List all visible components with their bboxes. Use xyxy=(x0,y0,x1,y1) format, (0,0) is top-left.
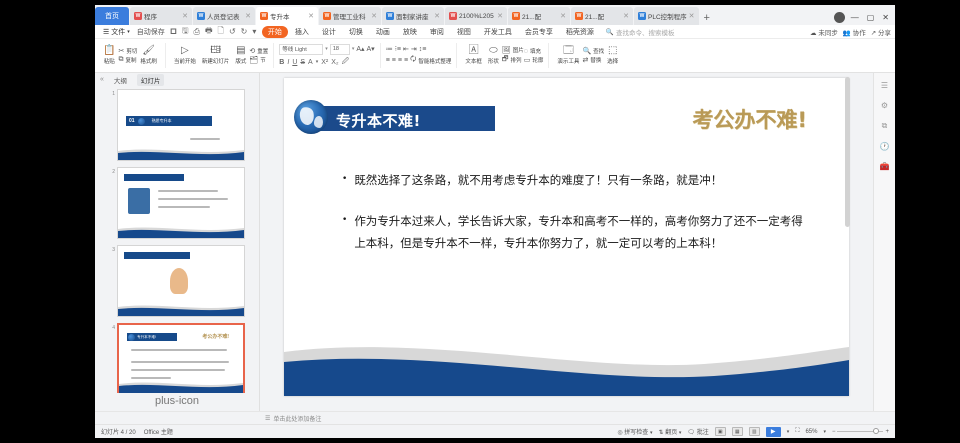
play-icon: ▷ xyxy=(181,46,189,56)
file-menu-button[interactable]: ☰ 文件 ▾ xyxy=(99,27,134,37)
ribbon-group-slide: ▷ 当前开始 🖽 新建幻灯片 ▤ 版式 ⟲ 重置 🗂 节 xyxy=(169,40,270,71)
zoom-knob[interactable] xyxy=(873,428,879,434)
picture-icon: 🖼 xyxy=(502,46,511,54)
document-tab-label: 程序 xyxy=(144,11,180,21)
tab-outline[interactable]: 大纲 xyxy=(110,74,131,86)
ribbon-group-clipboard: 📋 粘贴 ✂ 剪切 ⧉ 复制 🖌 格式刷 xyxy=(98,40,162,71)
window-controls: — ▢ ✕ xyxy=(830,12,895,25)
outline-icon: ▭ xyxy=(524,56,531,64)
view-reading-icon[interactable]: ▥ xyxy=(749,427,760,436)
collapse-left-icon[interactable]: « xyxy=(100,76,104,83)
cloud-sync-label: 未同步 xyxy=(818,30,838,37)
bullet-marker: • xyxy=(342,170,347,191)
select-button[interactable]: ⬚ 选择 xyxy=(604,40,621,71)
start-from-current-button[interactable]: ▷ 当前开始 xyxy=(171,40,199,71)
find-label: 查找 xyxy=(593,47,604,55)
chevron-down-icon[interactable]: ▾ xyxy=(325,46,328,52)
document-tab-label: 21...配 xyxy=(522,11,558,21)
slide-thumbnail-pane: « 大纲 幻灯片 101熟悉专升本234专升本不难!考公办不难!5 plus-i… xyxy=(95,73,260,411)
workspace: « 大纲 幻灯片 101熟悉专升本234专升本不难!考公办不难!5 plus-i… xyxy=(95,73,895,411)
close-icon[interactable]: ✕ xyxy=(560,12,566,20)
font-name-select[interactable]: 等线 Light xyxy=(279,44,323,55)
copy-label: 复制 xyxy=(125,56,136,64)
replace-icon: ⇄ xyxy=(582,56,588,64)
thumbnail-text-line xyxy=(131,377,171,379)
select-icon: ⬚ xyxy=(608,46,617,56)
ribbon-tab[interactable]: 设计 xyxy=(316,26,342,38)
undo-icon[interactable]: ↺ xyxy=(226,27,238,36)
ppt-icon: W xyxy=(575,12,583,20)
slide-thumbnail-number: 3 xyxy=(109,245,115,253)
close-icon[interactable]: ✕ xyxy=(623,12,629,20)
document-tab-label: 面制家讲座 xyxy=(396,11,432,21)
document-tab[interactable]: W程序✕ xyxy=(130,7,192,25)
export-pdf-icon[interactable]: 🗋 xyxy=(215,25,226,39)
ribbon-tab[interactable]: 会员专享 xyxy=(519,26,559,38)
indent-increase-icon[interactable]: ⇥ xyxy=(411,45,417,53)
document-tab[interactable]: W2100%L205✕ xyxy=(445,7,507,25)
slide-canvas-area[interactable]: 专升本不难! 考公办不难! •既然选择了这条路，就不用考虑专升本的难度了！只有一… xyxy=(260,73,873,411)
page-icon: ⇅ xyxy=(659,430,664,436)
autosave-label: 自动保存 xyxy=(137,29,165,36)
thumbnail-badge: 01 xyxy=(127,118,137,124)
command-search-placeholder: 查找命令、搜索模板 xyxy=(616,27,675,37)
slide-thumbnail-item[interactable]: 2 xyxy=(109,167,245,239)
chevron-down-icon[interactable]: ▾ xyxy=(316,59,319,65)
new-tab-button[interactable]: + xyxy=(699,12,715,25)
thumbnail-character xyxy=(170,268,188,294)
redo-icon[interactable]: ↻ xyxy=(238,27,250,36)
thumbnail-title-bar: 01熟悉专升本 xyxy=(126,116,212,126)
replace-label: 替换 xyxy=(590,56,601,64)
close-button[interactable]: ✕ xyxy=(880,13,891,22)
slide-thumbnail-number: 1 xyxy=(109,89,115,97)
thumbnail-text-line xyxy=(158,206,210,208)
bullet-list-icon[interactable]: ≔ xyxy=(386,45,393,53)
page-turn-label: 翻页 xyxy=(665,430,677,436)
tab-slides[interactable]: 幻灯片 xyxy=(137,74,165,86)
ppt-icon: W xyxy=(512,12,520,20)
ribbon-group-insert: 🄰 文本框 ⬭ 形状 🖼 图片 🗗 排列 ◌ 填充 xyxy=(460,40,545,71)
slide-bullet[interactable]: •作为专升本过来人，学长告诉大家，专升本和高考不一样的，高考你努力了还不一定考得… xyxy=(342,211,809,254)
arrange-icon: 🗗 xyxy=(502,55,509,66)
ribbon-group-tools: 🗔 演示工具 🔍 查找 ⇄ 替换 ⬚ 选择 xyxy=(552,40,623,71)
ribbon-tab[interactable]: 开始 xyxy=(262,26,288,38)
menu-right-actions: ☁ 未同步 👥 协作 ↗ 分享 xyxy=(810,27,891,37)
notes-placeholder: 单击此处添加备注 xyxy=(273,414,321,423)
ribbon-group-font: 等线 Light ▾ 18 ▾ A▴ A▾ B I U S A ▾ X² X₂ … xyxy=(277,40,376,71)
document-tab[interactable]: W人员登记表✕ xyxy=(193,7,255,25)
spellcheck-button[interactable]: ◎ 拼写检查 ▾ xyxy=(617,427,652,436)
search-icon: 🔍 xyxy=(606,28,614,36)
thumbnail-text-line xyxy=(190,138,220,140)
copy-button[interactable]: ⧉ 复制 xyxy=(118,56,137,64)
format-painter-label: 格式刷 xyxy=(140,57,157,65)
arrange-button[interactable]: 🗗 排列 xyxy=(502,55,524,66)
thumbnail-text-line xyxy=(131,361,229,363)
comment-button[interactable]: 🗨 批注 xyxy=(687,427,708,436)
globe-icon xyxy=(294,100,328,134)
zoom-slider[interactable]: − + xyxy=(832,429,889,435)
ppt-icon: W xyxy=(260,12,268,20)
close-icon[interactable]: ✕ xyxy=(308,12,314,20)
spellcheck-icon: ◎ xyxy=(617,430,622,436)
history-icon[interactable]: 🕐 xyxy=(880,142,890,151)
cloud-sync-button[interactable]: ☁ 未同步 xyxy=(810,27,838,37)
bold-button[interactable]: B xyxy=(279,59,284,66)
slide-banner-title: 专升本不难! xyxy=(336,110,421,131)
menu-bar: ☰ 文件 ▾ 自动保存 🞒 🖫 ⎙ 🖶 🗋 ↺ ↻ ▾ 开始插入设计切换动画放映… xyxy=(95,25,895,39)
thumbnail-title: 熟悉专升本 xyxy=(146,118,172,124)
thumbnail-text-line xyxy=(131,349,227,351)
comment-icon: 🗨 xyxy=(687,430,695,436)
scissors-icon: ✂ xyxy=(118,47,124,55)
font-color-icon[interactable]: A xyxy=(308,59,313,66)
command-search[interactable]: 🔍 查找命令、搜索模板 xyxy=(600,27,675,37)
reset-button[interactable]: ⟲ 重置 xyxy=(249,47,268,55)
fill-icon: ◌ xyxy=(524,48,528,55)
clear-format-icon[interactable]: 🖉 xyxy=(342,57,349,68)
align-right-icon[interactable]: ≡ xyxy=(398,57,402,64)
font-size-select[interactable]: 18 xyxy=(330,44,350,55)
zoom-out-button[interactable]: − xyxy=(832,429,836,435)
section-label: 节 xyxy=(260,56,266,64)
ribbon-tab[interactable]: 动画 xyxy=(370,26,396,38)
ribbon-divider xyxy=(456,43,457,68)
outline-button[interactable]: ▭ 轮廓 xyxy=(524,56,544,64)
new-slide-icon: 🖽 xyxy=(210,46,221,56)
align-center-icon[interactable]: ≡ xyxy=(392,57,396,64)
notes-bar[interactable]: ☰ 单击此处添加备注 xyxy=(95,411,895,424)
duplicate-icon[interactable]: ⧉ xyxy=(882,121,888,131)
status-bar: 幻灯片 4 / 20 Office 主题 ◎ 拼写检查 ▾ ⇅ 翻页 ▾ 🗨 批… xyxy=(95,424,895,438)
pdf-icon: W xyxy=(449,12,457,20)
document-tab-label: 21...配 xyxy=(585,11,621,21)
justify-icon[interactable]: ≡ xyxy=(404,57,408,64)
scrollbar-thumb[interactable] xyxy=(845,77,850,227)
picture-label: 图片 xyxy=(513,46,524,54)
textbox-button[interactable]: 🄰 文本框 xyxy=(462,40,485,71)
arrange-label: 排列 xyxy=(510,56,521,64)
underline-button[interactable]: U xyxy=(292,59,297,66)
layout-icon: ▤ xyxy=(236,46,245,56)
save-icon[interactable]: 🖫 xyxy=(179,25,191,39)
ribbon-divider xyxy=(380,43,381,68)
settings-icon[interactable]: ⚙ xyxy=(881,101,888,110)
view-sorter-icon[interactable]: ▦ xyxy=(732,427,743,436)
notes-icon: ☰ xyxy=(265,415,270,422)
ribbon-tab[interactable]: 开发工具 xyxy=(478,26,518,38)
print-icon[interactable]: ⎙ xyxy=(191,27,202,37)
ribbon-divider xyxy=(548,43,549,68)
page-turn-button[interactable]: ⇅ 翻页 ▾ xyxy=(659,427,682,436)
align-left-icon[interactable]: ≡ xyxy=(386,57,390,64)
thumbnail-text-line xyxy=(158,190,218,192)
new-slide-button[interactable]: 🖽 新建幻灯片 xyxy=(199,40,233,71)
slide-thumbnail[interactable] xyxy=(117,245,245,317)
fill-label: 填充 xyxy=(530,47,541,55)
cut-button[interactable]: ✂ 剪切 xyxy=(118,47,137,55)
chevron-down-icon[interactable]: ▾ xyxy=(352,46,355,52)
replace-button[interactable]: ⇄ 替换 xyxy=(582,56,604,64)
decrease-font-icon[interactable]: A▾ xyxy=(367,45,375,53)
document-tab-bar: 首页 W程序✕W人员登记表✕W专升本✕W管理工业科✕W面制家讲座✕W2100%L… xyxy=(95,5,895,25)
shape-icon: ⬭ xyxy=(489,46,498,56)
outline-label: 轮廓 xyxy=(532,56,543,64)
slide-thumbnail[interactable]: 专升本不难!考公办不难! xyxy=(117,323,245,393)
slide-thumbnail-item[interactable]: 3 xyxy=(109,245,245,317)
find-button[interactable]: 🔍 查找 xyxy=(582,47,604,55)
present-tool-icon: 🗔 xyxy=(563,46,574,56)
document-tab[interactable]: W面制家讲座✕ xyxy=(382,7,444,25)
numbered-list-icon[interactable]: ⁝≡ xyxy=(395,45,401,53)
collaborate-label: 协作 xyxy=(853,30,866,37)
new-slide-label: 新建幻灯片 xyxy=(202,57,230,65)
document-tab[interactable]: WPLC控制程序✕ xyxy=(634,7,699,25)
superscript-button[interactable]: X² xyxy=(321,59,328,66)
document-tab[interactable]: W专升本✕ xyxy=(256,7,318,25)
document-tab-label: 2100%L205 xyxy=(459,13,495,20)
theme-label[interactable]: Office 主题 xyxy=(144,427,173,436)
slide-thumbnail-number: 2 xyxy=(109,167,115,175)
ribbon-tab[interactable]: 审阅 xyxy=(424,26,450,38)
ribbon-group-paragraph: ≔ ⁝≡ ⇤ ⇥ ↕≡ ≡ ≡ ≡ ≡ 🗘 智能格式整理 xyxy=(384,40,454,71)
italic-button[interactable]: I xyxy=(287,59,289,66)
slide-bullet[interactable]: •既然选择了这条路，就不用考虑专升本的难度了！只有一条路，就是冲！ xyxy=(342,170,809,191)
ribbon-divider xyxy=(273,43,274,68)
slide-thumbnail[interactable]: 01熟悉专升本 xyxy=(117,89,245,161)
thumbnail-title: 专升本不难! xyxy=(136,335,156,340)
zoom-level[interactable]: 65% xyxy=(805,429,817,435)
reset-label: 重置 xyxy=(257,47,268,55)
slide-thumbnail-list[interactable]: 101熟悉专升本234专升本不难!考公办不难!5 xyxy=(95,86,259,393)
add-slide-button[interactable]: plus-icon xyxy=(95,393,259,411)
ribbon-toolbar: 📋 粘贴 ✂ 剪切 ⧉ 复制 🖌 格式刷 ▷ 当 xyxy=(95,39,895,73)
toolbox-icon[interactable]: 🧰 xyxy=(880,162,890,171)
ppt-icon: W xyxy=(323,12,331,20)
ribbon-tab[interactable]: 放映 xyxy=(397,26,423,38)
cloud-icon: ☁ xyxy=(810,30,817,37)
reset-icon: ⟲ xyxy=(249,47,255,55)
document-tab-label: 专升本 xyxy=(270,11,306,21)
excel-icon: W xyxy=(197,12,205,20)
hamburger-icon: ☰ xyxy=(103,28,109,36)
slide-thumbnail-number: 4 xyxy=(109,323,115,331)
present-tool-button[interactable]: 🗔 演示工具 xyxy=(554,40,582,71)
section-icon: 🗂 xyxy=(249,56,258,64)
ribbon-tab[interactable]: 稻壳资源 xyxy=(560,26,600,38)
share-button[interactable]: ↗ 分享 xyxy=(871,27,891,37)
word-icon: W xyxy=(638,12,646,20)
document-tab-label: 人员登记表 xyxy=(207,11,243,21)
document-tab[interactable]: W管理工业科✕ xyxy=(319,7,381,25)
file-menu-label: 文件 xyxy=(111,27,125,37)
shape-button[interactable]: ⬭ 形状 xyxy=(485,40,502,71)
customize-icon[interactable]: ▾ xyxy=(250,27,259,36)
share-icon: ↗ xyxy=(871,30,876,37)
thumbnail-wave xyxy=(118,148,244,160)
search-icon: 🔍 xyxy=(582,47,591,55)
document-tab-label: 管理工业科 xyxy=(333,11,369,21)
select-label: 选择 xyxy=(607,57,618,65)
textbox-icon: 🄰 xyxy=(469,46,479,56)
document-tab[interactable]: W21...配✕ xyxy=(508,7,570,25)
document-tab[interactable]: W21...配✕ xyxy=(571,7,633,25)
thumbnail-title-bar xyxy=(124,174,184,181)
smart-layout-icon[interactable]: 🗘 xyxy=(410,55,416,66)
maximize-button[interactable]: ▢ xyxy=(865,13,877,22)
minimize-button[interactable]: — xyxy=(849,13,861,22)
textbox-label: 文本框 xyxy=(465,57,482,65)
subscript-button[interactable]: X₂ xyxy=(331,59,338,66)
thumbnail-wave xyxy=(118,226,244,238)
slide-thumbnail-item[interactable]: 101熟悉专升本 xyxy=(109,89,245,161)
slide-counter: 幻灯片 4 / 20 xyxy=(101,427,136,436)
chevron-down-icon[interactable]: ▾ xyxy=(823,429,826,435)
thumbnail-photo xyxy=(128,188,150,214)
thumbnail-gold-heading: 考公办不难! xyxy=(202,333,229,340)
slide-wave-decoration xyxy=(284,338,849,396)
play-slideshow-button[interactable]: ▶ xyxy=(766,427,781,437)
fill-button[interactable]: ◌ 填充 xyxy=(524,47,544,55)
section-button[interactable]: 🗂 节 xyxy=(249,56,268,64)
thumbnail-title-bar xyxy=(124,252,190,259)
indent-decrease-icon[interactable]: ⇤ xyxy=(403,45,409,53)
ribbon-divider xyxy=(165,43,166,68)
start-from-current-label: 当前开始 xyxy=(174,57,196,65)
paste-button[interactable]: 📋 粘贴 xyxy=(100,40,118,71)
thumbnail-wave xyxy=(119,381,243,393)
chevron-down-icon[interactable]: ▾ xyxy=(787,429,790,435)
increase-font-icon[interactable]: A▴ xyxy=(356,45,364,53)
line-spacing-icon[interactable]: ↕≡ xyxy=(419,46,427,53)
collaborate-button[interactable]: 👥 协作 xyxy=(843,27,866,37)
close-icon[interactable]: ✕ xyxy=(182,12,188,20)
autosave-toggle[interactable]: 自动保存 xyxy=(134,27,168,37)
slide-gold-heading: 考公办不难! xyxy=(692,104,807,134)
fit-window-icon[interactable]: ⛶ xyxy=(795,428,799,435)
globe-icon xyxy=(128,334,135,341)
editor-vertical-scrollbar[interactable] xyxy=(845,77,850,389)
bullet-text: 既然选择了这条路，就不用考虑专升本的难度了！只有一条路，就是冲！ xyxy=(354,170,722,191)
home-tab[interactable]: 首页 xyxy=(95,7,129,25)
close-icon[interactable]: ✕ xyxy=(497,12,503,20)
thumbnail-text-line xyxy=(158,198,228,200)
format-panel-icon[interactable]: ☰ xyxy=(881,81,888,90)
strikethrough-button[interactable]: S xyxy=(300,59,305,66)
wps-presentation-window: 首页 W程序✕W人员登记表✕W专升本✕W管理工业科✕W面制家讲座✕W2100%L… xyxy=(95,5,895,438)
close-icon[interactable]: ✕ xyxy=(245,12,251,20)
autosave-switch-icon[interactable]: 🞒 xyxy=(168,27,179,37)
paste-icon: 📋 xyxy=(103,46,115,56)
ribbon-tab[interactable]: 切换 xyxy=(343,26,369,38)
right-tool-rail: ☰ ⚙ ⧉ 🕐 🧰 xyxy=(873,73,895,411)
avatar[interactable] xyxy=(834,12,845,23)
format-painter-button[interactable]: 🖌 格式刷 xyxy=(137,40,160,71)
smart-layout-label[interactable]: 智能格式整理 xyxy=(418,57,451,65)
excel-icon: W xyxy=(386,12,394,20)
slide-thumbnail-item[interactable]: 4专升本不难!考公办不难! xyxy=(109,323,245,393)
brush-icon: 🖌 xyxy=(142,46,155,56)
bullet-marker: • xyxy=(342,211,347,254)
paste-label: 粘贴 xyxy=(104,57,115,65)
zoom-in-button[interactable]: + xyxy=(885,429,889,435)
slide-editor: 专升本不难! 考公办不难! •既然选择了这条路，就不用考虑专升本的难度了！只有一… xyxy=(260,73,873,411)
pdf-icon: W xyxy=(134,12,142,20)
present-tool-label: 演示工具 xyxy=(557,57,579,65)
bullet-text: 作为专升本过来人，学长告诉大家，专升本和高考不一样的，高考你努力了还不一定考得上… xyxy=(354,211,809,254)
zoom-track[interactable] xyxy=(837,431,883,432)
chevron-down-icon: ▾ xyxy=(679,430,682,436)
close-icon[interactable]: ✕ xyxy=(689,12,695,20)
close-icon[interactable]: ✕ xyxy=(434,12,440,20)
thumbnail-pane-header: « 大纲 幻灯片 xyxy=(95,73,259,86)
ribbon-tab[interactable]: 插入 xyxy=(289,26,315,38)
spellcheck-label: 拼写检查 xyxy=(624,430,648,436)
people-icon: 👥 xyxy=(843,30,851,37)
slide-thumbnail[interactable] xyxy=(117,167,245,239)
thumbnail-text-line xyxy=(131,369,225,371)
picture-button[interactable]: 🖼 图片 xyxy=(502,46,524,54)
document-tab-label: PLC控制程序 xyxy=(648,11,687,21)
layout-button[interactable]: ▤ 版式 xyxy=(232,40,249,71)
thumbnail-wave xyxy=(118,304,244,316)
close-icon[interactable]: ✕ xyxy=(371,12,377,20)
layout-label: 版式 xyxy=(235,57,246,65)
shape-label: 形状 xyxy=(488,57,499,65)
cut-label: 剪切 xyxy=(126,47,137,55)
copy-icon: ⧉ xyxy=(118,56,123,64)
slide-canvas[interactable]: 专升本不难! 考公办不难! •既然选择了这条路，就不用考虑专升本的难度了！只有一… xyxy=(284,78,849,396)
slide-body-text[interactable]: •既然选择了这条路，就不用考虑专升本的难度了！只有一条路，就是冲！•作为专升本过… xyxy=(342,170,809,274)
status-right-group: ◎ 拼写检查 ▾ ⇅ 翻页 ▾ 🗨 批注 ▣ ▦ ▥ ▶ ▾ ⛶ 65% ▾ − xyxy=(617,427,889,437)
share-label: 分享 xyxy=(878,30,891,37)
globe-icon xyxy=(138,118,145,125)
comment-label: 批注 xyxy=(697,430,709,436)
thumbnail-title-bar: 专升本不难! xyxy=(127,333,177,341)
chevron-down-icon: ▾ xyxy=(127,29,130,35)
view-normal-icon[interactable]: ▣ xyxy=(715,427,726,436)
ribbon-tab[interactable]: 视图 xyxy=(451,26,477,38)
print-preview-icon[interactable]: 🖶 xyxy=(202,25,215,39)
chevron-down-icon: ▾ xyxy=(650,430,653,436)
